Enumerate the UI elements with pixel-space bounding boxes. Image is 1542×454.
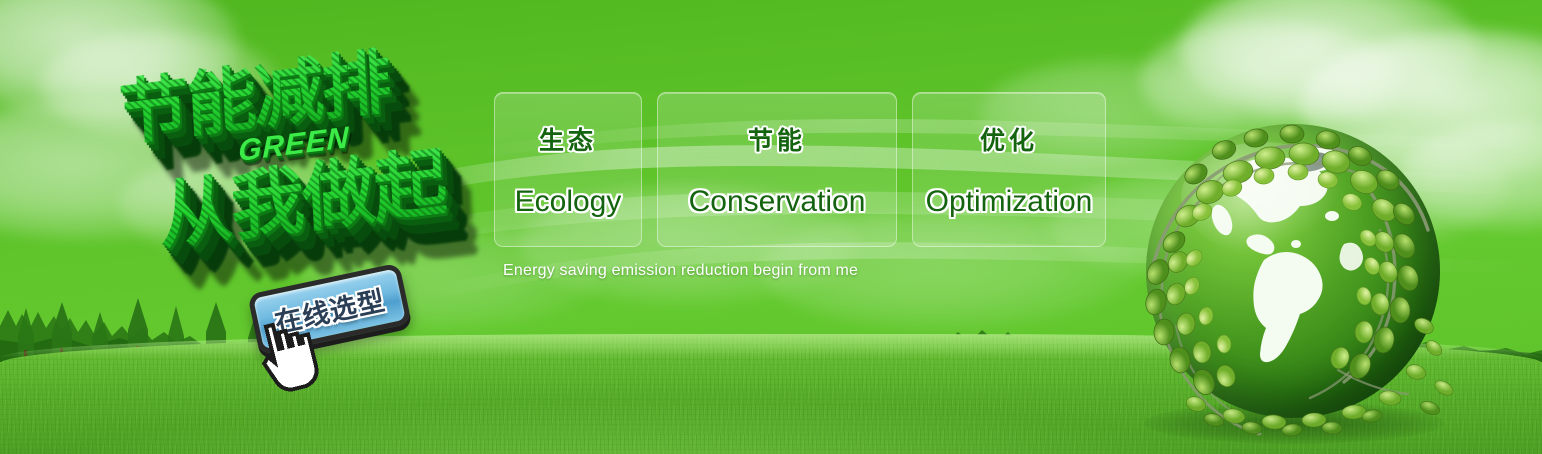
green-energy-banner: 节能减排 GREEN 从我做起 在线选型: [0, 0, 1542, 454]
feature-card-cn-label: 节能: [748, 121, 806, 157]
feature-card-en-label: Conservation: [689, 185, 866, 219]
hand-pointer-icon: [244, 316, 324, 394]
banner-tagline: Energy saving emission reduction begin f…: [503, 262, 858, 280]
leafy-earth-globe-icon: [1128, 120, 1458, 440]
feature-card-list: 生态 Ecology 节能 Conservation 优化 Optimizati…: [494, 92, 1106, 247]
headline-3d-logo: 节能减排 GREEN 从我做起: [96, 36, 496, 266]
feature-card-en-label: Optimization: [926, 185, 1093, 219]
feature-card-optimization[interactable]: 优化 Optimization: [912, 92, 1106, 247]
ivy-vines-icon: [1128, 120, 1458, 440]
online-selection-cta[interactable]: 在线选型: [252, 274, 427, 374]
feature-card-cn-label: 生态: [539, 121, 597, 157]
feature-card-en-label: Ecology: [515, 185, 622, 219]
feature-card-ecology[interactable]: 生态 Ecology: [494, 92, 642, 247]
feature-card-cn-label: 优化: [980, 121, 1038, 157]
feature-card-conservation[interactable]: 节能 Conservation: [657, 92, 897, 247]
